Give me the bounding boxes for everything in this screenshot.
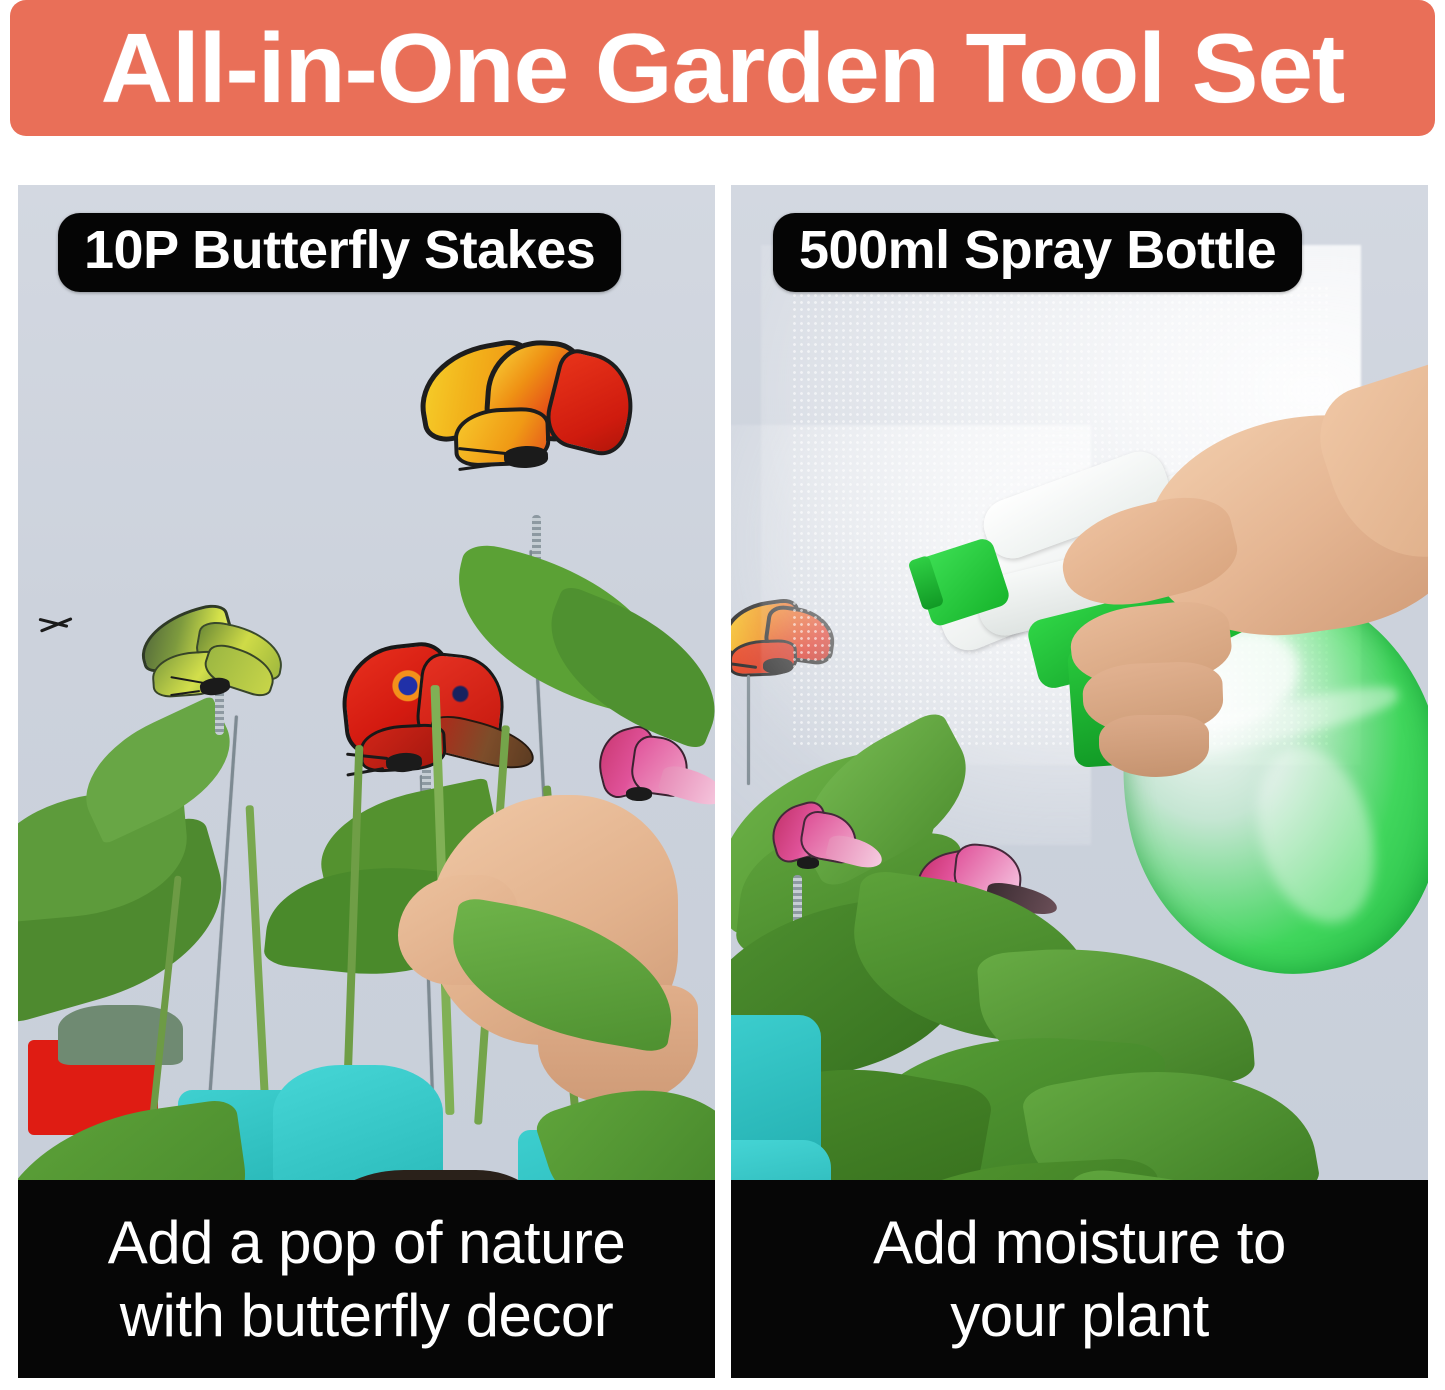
banner-header: All-in-One Garden Tool Set bbox=[10, 0, 1435, 136]
caption-line-2: with butterfly decor bbox=[120, 1279, 614, 1352]
caption-spray-bottle: Add moisture to your plant bbox=[731, 1180, 1428, 1378]
orange-yellow-butterfly-icon bbox=[418, 340, 638, 500]
infographic-root: All-in-One Garden Tool Set bbox=[0, 0, 1445, 1390]
caption-line-1: Add moisture to bbox=[873, 1206, 1286, 1279]
finger-pinky bbox=[1099, 715, 1209, 777]
planter-pot bbox=[731, 1140, 831, 1180]
planter-pot bbox=[273, 1065, 443, 1180]
chip-butterfly-stakes: 10P Butterfly Stakes bbox=[58, 213, 621, 292]
chip-label-spray: 500ml Spray Bottle bbox=[799, 223, 1276, 278]
banner-title: All-in-One Garden Tool Set bbox=[101, 19, 1344, 117]
caption-line-1: Add a pop of nature bbox=[108, 1206, 626, 1279]
panel-butterfly-stakes: 10P Butterfly Stakes Add a pop of nature… bbox=[18, 185, 715, 1378]
chip-label-butterfly: 10P Butterfly Stakes bbox=[84, 223, 595, 278]
caption-butterfly-stakes: Add a pop of nature with butterfly decor bbox=[18, 1180, 715, 1378]
photo-butterfly-stakes bbox=[18, 185, 715, 1180]
chip-spray-bottle: 500ml Spray Bottle bbox=[773, 213, 1302, 292]
caption-line-2: your plant bbox=[950, 1279, 1209, 1352]
panel-spray-bottle: 500ml Spray Bottle Add moisture to your … bbox=[731, 185, 1428, 1378]
yellow-green-butterfly-icon bbox=[138, 610, 318, 735]
photo-spray-bottle bbox=[731, 185, 1428, 1180]
